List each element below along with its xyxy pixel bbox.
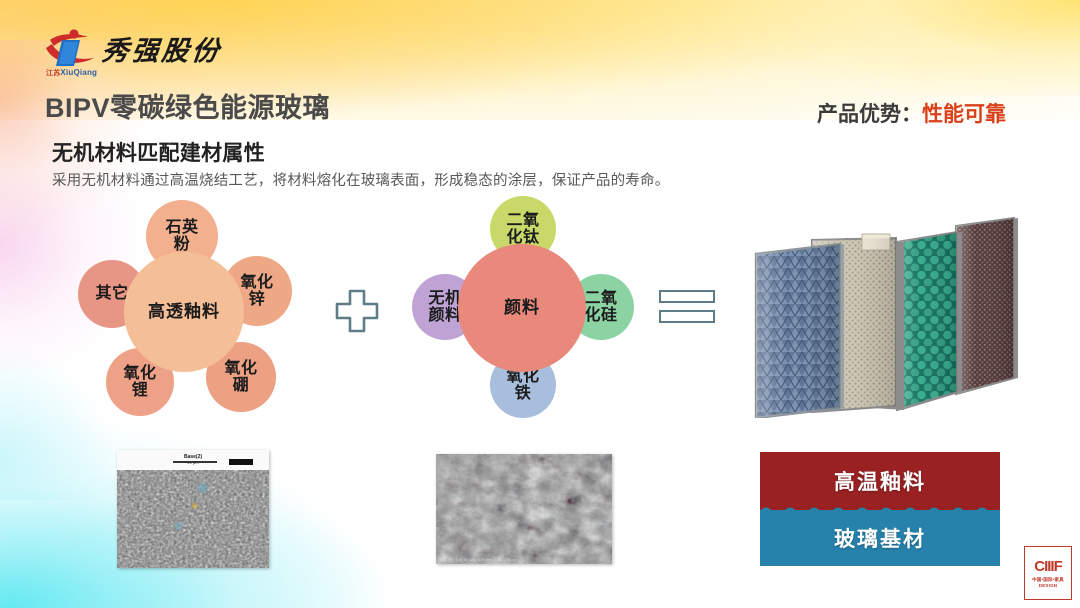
wavy-interface bbox=[760, 502, 1000, 518]
page-title: BIPV零碳绿色能源玻璃 bbox=[45, 86, 330, 125]
bubble-label: 无机 颜料 bbox=[428, 290, 461, 325]
logo-sub-en: XiuQiang bbox=[60, 68, 97, 77]
badge-line-3: DESIGN bbox=[1039, 583, 1057, 588]
panel-brown-mesh bbox=[956, 218, 1018, 394]
section-subtitle: 无机材料匹配建材属性 bbox=[52, 137, 265, 167]
advantage-value: 性能可靠 bbox=[922, 103, 1006, 126]
layer-glaze-label: 高温釉料 bbox=[834, 466, 926, 496]
bubble-label: 氧化 锂 bbox=[123, 365, 156, 400]
person-swoosh-logo-icon bbox=[44, 28, 100, 68]
coated-glass-panels bbox=[746, 196, 1038, 418]
company-logo: 秀强股份 江苏XiuQiang bbox=[44, 26, 224, 78]
coating-layer-stack: 高温釉料 玻璃基材 bbox=[760, 452, 1000, 566]
pigment-composition-diagram: 二氧 化钛 二氧 化硅 氧化 铁 无机 颜料 颜料 bbox=[408, 196, 638, 424]
advantage-label: 产品优势： bbox=[817, 103, 922, 126]
layer-glass-label: 玻璃基材 bbox=[834, 523, 926, 553]
sem-scale-bar-line bbox=[173, 460, 217, 464]
badge-line-2: 中国•国际•家具 bbox=[1032, 577, 1064, 582]
product-advantage: 产品优势：性能可靠 bbox=[817, 98, 1006, 128]
layer-glass-substrate: 玻璃基材 bbox=[760, 510, 1000, 566]
bubble-label: 氧化 铁 bbox=[506, 368, 539, 403]
bubble-label: 氧化 硼 bbox=[224, 360, 257, 395]
plus-icon bbox=[334, 288, 380, 334]
panel-green-hex bbox=[897, 232, 962, 410]
sem-image bbox=[117, 470, 269, 568]
bubble-pigment: 颜料 bbox=[458, 244, 586, 372]
slide-canvas: 秀强股份 江苏XiuQiang BIPV零碳绿色能源玻璃 产品优势：性能可靠 无… bbox=[0, 0, 1080, 608]
background-gradient-top-right bbox=[650, 0, 1080, 96]
bubble-label: 二氧 化硅 bbox=[584, 290, 617, 325]
sem-legend-bar bbox=[221, 459, 261, 465]
panel-blue-triangle bbox=[756, 244, 844, 418]
bubble-label: 高透釉料 bbox=[148, 303, 220, 321]
equals-bar-top bbox=[659, 290, 715, 303]
cmf-design-badge: CIIIF 中国•国际•家具 DESIGN bbox=[1024, 546, 1072, 600]
sem-sintered-coating: SEM HV: 5.00 kV WD: 8.50 mm MAG: 1.00 kx bbox=[436, 454, 612, 564]
bubble-label: 颜料 bbox=[504, 299, 540, 317]
logo-wordmark: 秀强股份 bbox=[100, 29, 224, 68]
bubble-label: 二氧 化钛 bbox=[506, 212, 539, 247]
equals-bar-bottom bbox=[659, 310, 715, 323]
sem-image bbox=[436, 454, 612, 564]
sem-footer-text: SEM HV: 5.00 kV WD: 8.50 mm MAG: 1.00 kx bbox=[439, 558, 516, 562]
logo-sub-cn: 江苏 bbox=[46, 70, 60, 77]
sem-base-powder: Base(2) 20 μm bbox=[117, 450, 269, 568]
bubble-label: 其它 bbox=[95, 285, 128, 302]
section-description: 采用无机材料通过高温烧结工艺，将材料熔化在玻璃表面，形成稳态的涂层，保证产品的寿… bbox=[52, 169, 669, 190]
glaze-composition-diagram: 石英 粉 氧化 锌 氧化 硼 氧化 锂 其它 高透釉料 bbox=[72, 200, 322, 420]
bubble-label: 氧化 锌 bbox=[240, 274, 273, 309]
logo-subtext: 江苏XiuQiang bbox=[46, 68, 97, 78]
badge-mark: CIIIF bbox=[1034, 558, 1062, 575]
badge-subtext: 中国•国际•家具 DESIGN bbox=[1032, 577, 1064, 588]
bubble-label: 石英 粉 bbox=[165, 219, 198, 254]
bubble-high-transparency-glaze: 高透釉料 bbox=[124, 252, 244, 372]
equals-icon bbox=[659, 290, 717, 330]
